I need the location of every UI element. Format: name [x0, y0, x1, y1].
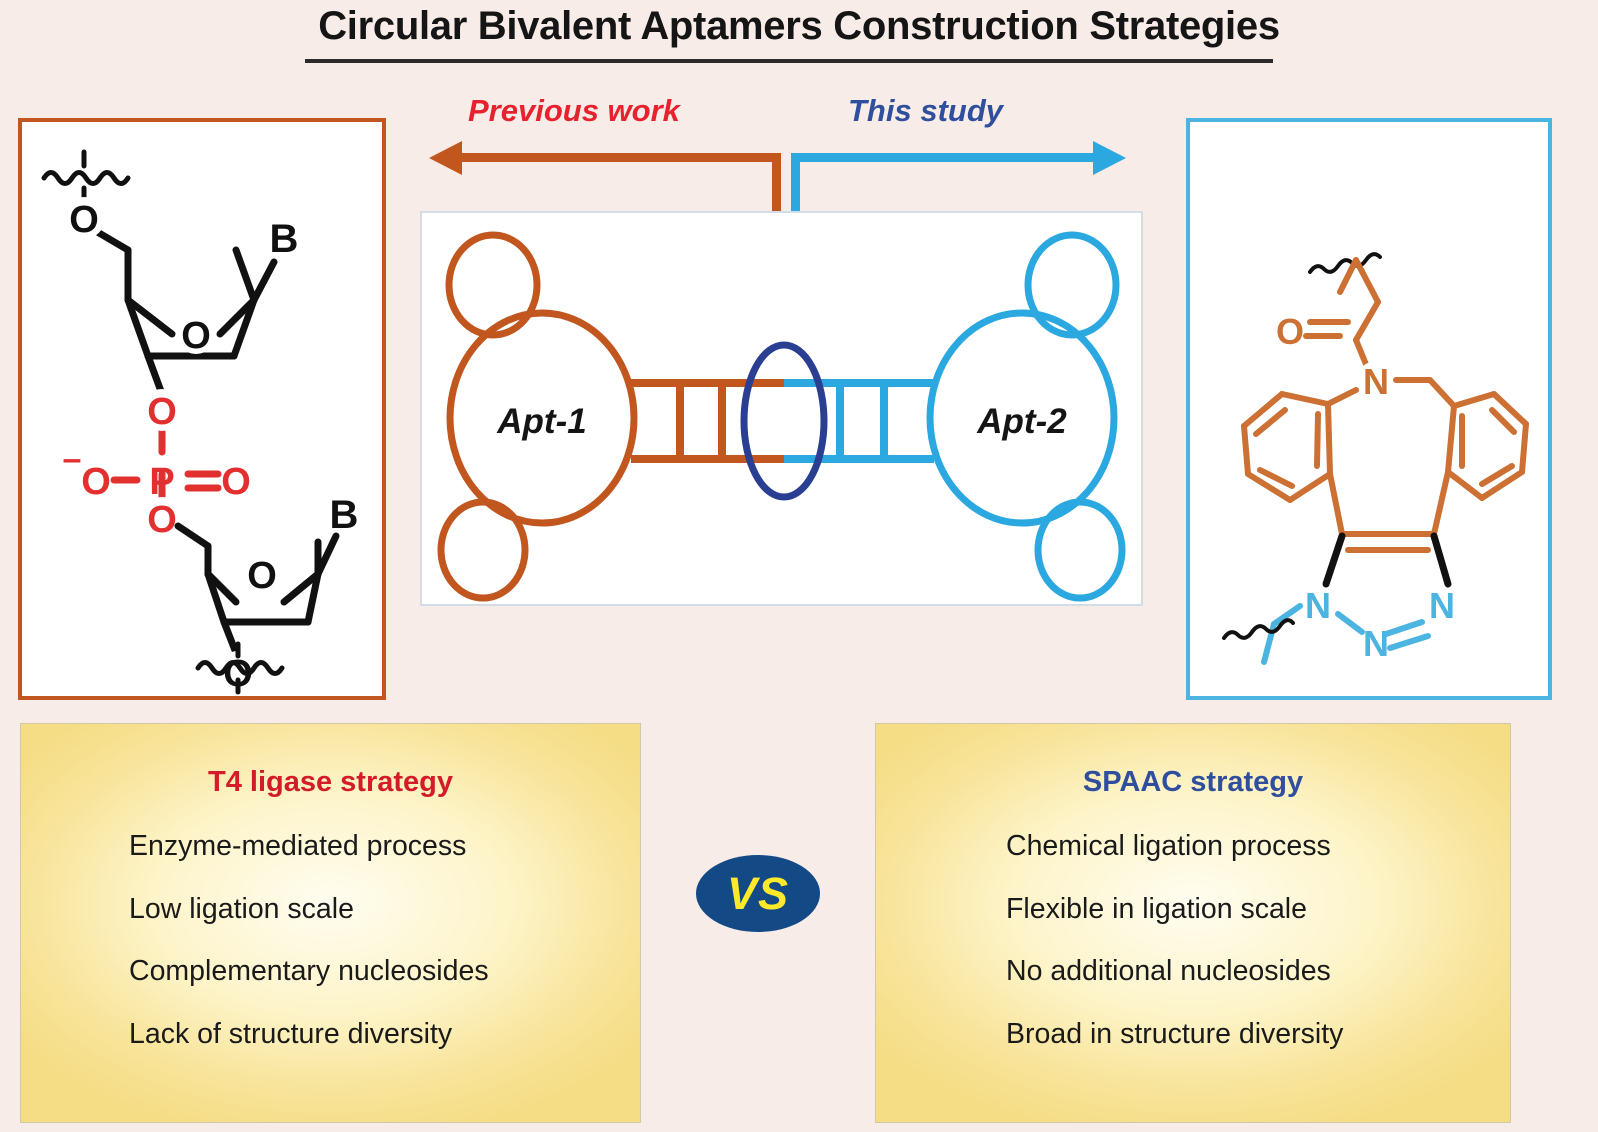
spaac-heading: SPAAC strategy — [876, 766, 1510, 799]
triazole-n2-label: N — [1363, 623, 1389, 664]
amide-nitrogen-label: N — [1363, 361, 1389, 402]
this-study-label: This study — [848, 93, 1003, 129]
base-label-bottom: B — [330, 493, 359, 537]
phosphate-oxygen-left: O — [81, 461, 111, 503]
t4-ligase-strategy-box: T4 ligase strategy Enzyme-mediated proce… — [20, 723, 641, 1123]
triazole-n1-label: N — [1305, 585, 1331, 626]
title-block: Circular Bivalent Aptamers Construction … — [0, 4, 1598, 49]
versus-badge: VS — [696, 855, 820, 932]
triazole-n3-label: N — [1429, 585, 1455, 626]
apt2-label: Apt-2 — [976, 402, 1067, 441]
page-title: Circular Bivalent Aptamers Construction … — [0, 4, 1598, 49]
graphical-abstract: Circular Bivalent Aptamers Construction … — [0, 0, 1598, 1132]
base-label-top: B — [270, 217, 299, 261]
apt2-loop-top — [1028, 235, 1116, 335]
spaac-strategy-box: SPAAC strategy Chemical ligation process… — [875, 723, 1511, 1123]
previous-work-arrowhead-icon — [429, 141, 462, 175]
spaac-adduct-diagram: O N — [1190, 122, 1548, 696]
apt1-loop-bottom — [441, 502, 525, 598]
apt2-loop-bottom — [1038, 502, 1122, 598]
t4-ligase-points: Enzyme-mediated process Low ligation sca… — [129, 832, 489, 1082]
list-item: Chemical ligation process — [1006, 832, 1343, 861]
ring-oxygen-top: O — [181, 315, 211, 357]
list-item: Broad in structure diversity — [1006, 1020, 1343, 1049]
duplex-strand-orange — [631, 383, 784, 459]
list-item: Complementary nucleosides — [129, 957, 489, 986]
panel-phosphodiester-structure: O O O B — [18, 118, 386, 700]
phosphodiester-diagram: O O O B — [22, 122, 382, 696]
apt1-loop-top — [449, 235, 537, 335]
previous-work-arrow-shaft — [458, 153, 780, 162]
list-item: Low ligation scale — [129, 895, 489, 924]
ring-oxygen-bottom: O — [247, 555, 277, 597]
list-item: Flexible in ligation scale — [1006, 895, 1343, 924]
title-underline — [305, 59, 1273, 63]
t4-ligase-heading: T4 ligase strategy — [21, 766, 640, 799]
duplex-strand-blue — [784, 383, 934, 459]
phosphate-negative-charge: – — [63, 440, 82, 478]
bivalent-aptamer-schematic: Apt-1 Apt-2 — [422, 213, 1141, 604]
list-item: Enzyme-mediated process — [129, 832, 489, 861]
phosphodiester-lower-tether — [22, 640, 382, 700]
this-study-arrow-shaft — [791, 153, 1101, 162]
panel-dbco-triazole-structure: O N — [1186, 118, 1552, 700]
phosphate-oxygen-right: O — [221, 461, 251, 503]
list-item: Lack of structure diversity — [129, 1020, 489, 1049]
this-study-arrowhead-icon — [1093, 141, 1126, 175]
ligation-junction-ellipse — [744, 345, 824, 497]
apt1-label: Apt-1 — [496, 402, 586, 441]
carbonyl-oxygen-label: O — [1276, 311, 1304, 352]
list-item: No additional nucleosides — [1006, 957, 1343, 986]
versus-label: VS — [727, 871, 789, 916]
phosphate-oxygen-upper: O — [147, 391, 177, 433]
previous-work-label: Previous work — [468, 93, 680, 129]
phosphate-oxygen-lower: O — [147, 499, 177, 541]
panel-bivalent-aptamer-diagram: Apt-1 Apt-2 — [420, 211, 1143, 606]
spaac-points: Chemical ligation process Flexible in li… — [1006, 832, 1343, 1082]
phosphorus-label: P — [149, 461, 174, 503]
terminal-oxygen-top: O — [69, 199, 99, 241]
